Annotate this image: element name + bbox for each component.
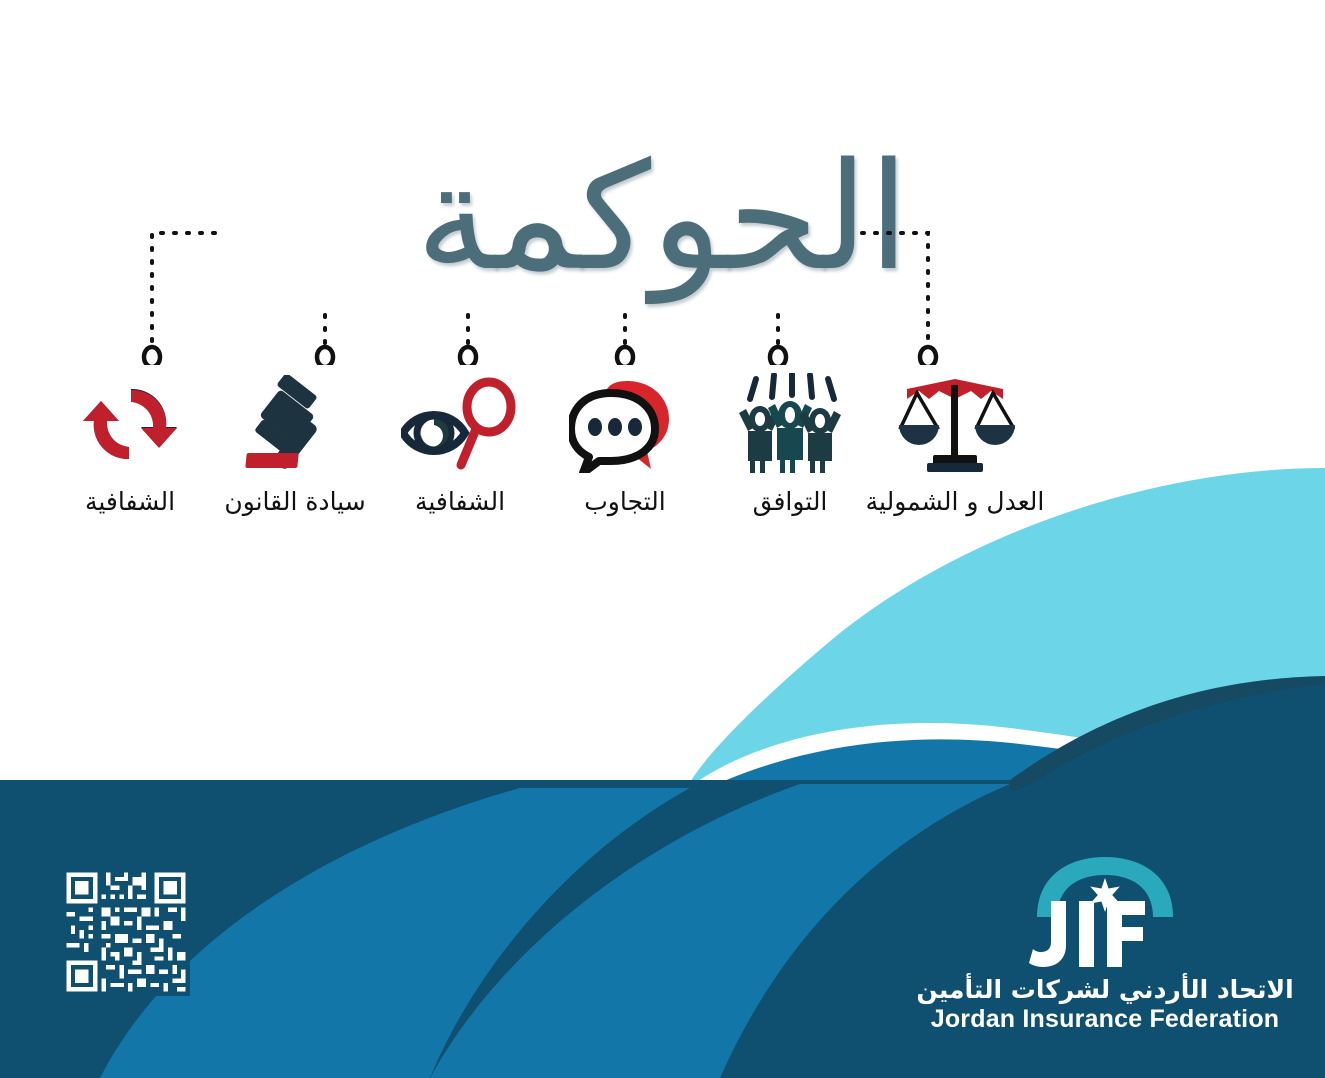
people-celebrating-icon: [734, 368, 846, 473]
wave-white-gap: [688, 723, 1325, 802]
principle-label: سيادة القانون: [224, 487, 365, 516]
wave-navy-shoulder: [1010, 676, 1325, 790]
eye-magnifier-icon: [401, 368, 519, 473]
principle-consensus[interactable]: التوافق: [715, 368, 865, 516]
principle-label: الشفافية: [85, 487, 175, 516]
connector-ring-3: [460, 347, 476, 365]
federation-name-en: Jordan Insurance Federation: [931, 1005, 1280, 1034]
connector-ring-6: [920, 347, 936, 365]
connector-elbow-left: [152, 233, 215, 345]
gavel-icon: [241, 368, 349, 473]
principle-rule-of-law[interactable]: سيادة القانون: [220, 368, 370, 516]
qr-code[interactable]: [62, 868, 190, 996]
circular-arrows-icon: [76, 368, 184, 473]
connector-elbow-right: [862, 233, 928, 345]
connector-ring-5: [770, 347, 786, 365]
scales-of-justice-icon: [895, 368, 1015, 473]
principle-transparency[interactable]: الشفافية: [385, 368, 535, 516]
principle-label: التوافق: [753, 487, 828, 516]
principle-responsiveness[interactable]: التجاوب: [550, 368, 700, 516]
principle-transparency-cycle[interactable]: الشفافية: [55, 368, 205, 516]
principle-equity-inclusiveness[interactable]: العدل و الشمولية: [880, 368, 1030, 516]
principles-row: الشفافية سيادة القانون: [55, 368, 1030, 548]
principle-label: التجاوب: [584, 487, 665, 516]
wave-swoosh-2: [430, 784, 1010, 1078]
jif-logo: الاتحاد الأردني لشركات التأمين Jordan In…: [940, 855, 1270, 1040]
connector-lines: [0, 215, 1325, 365]
connector-ring-1: [144, 347, 160, 365]
wave-mid-blue-top: [700, 739, 1325, 840]
connector-ring-4: [617, 347, 633, 365]
federation-name-ar: الاتحاد الأردني لشركات التأمين: [916, 975, 1293, 1004]
jif-logo-mark: [1005, 855, 1205, 973]
principle-label: العدل و الشمولية: [866, 487, 1045, 516]
governance-infographic: الحوكمة: [0, 0, 1325, 1078]
connector-ring-2: [317, 347, 333, 365]
principle-label: الشفافية: [415, 487, 505, 516]
gavel-base: [245, 453, 299, 468]
speech-bubbles-icon: [569, 368, 681, 473]
